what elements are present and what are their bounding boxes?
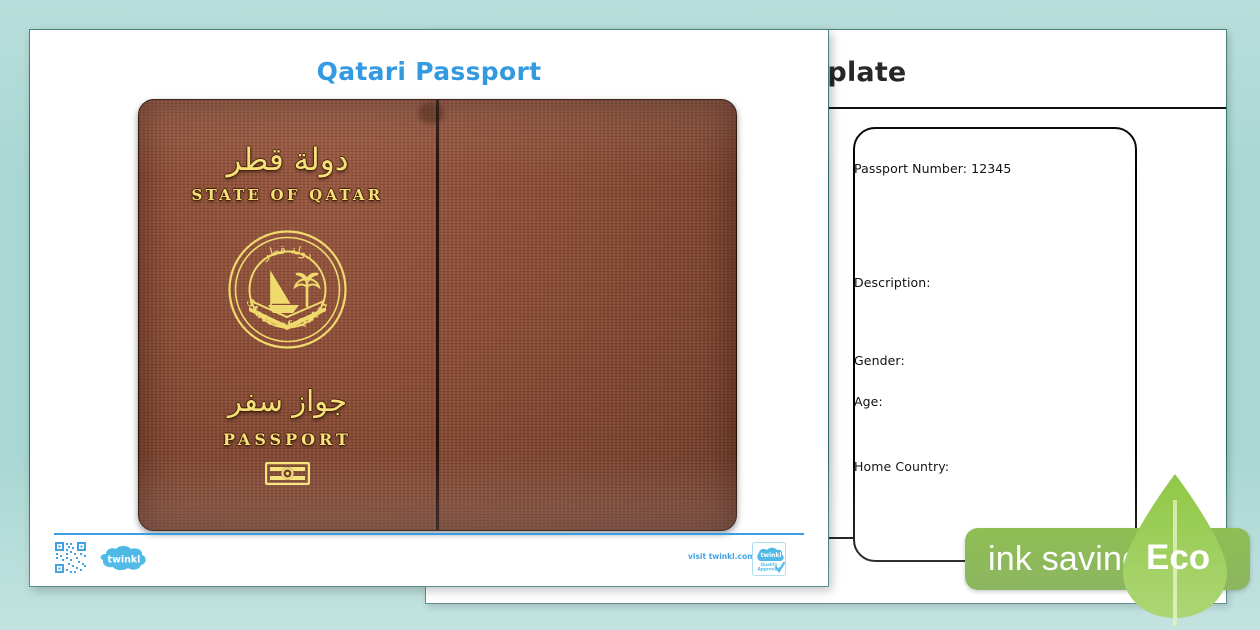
cover-scuff-mark — [418, 102, 444, 124]
passport-cover-image: دولة قطر STATE OF QATAR — [138, 99, 737, 531]
cover-arabic-passport-text: جواز سفر — [139, 387, 436, 416]
passport-spine-fold — [436, 100, 439, 530]
cover-passport-word: PASSPORT — [139, 430, 436, 449]
visit-twinkl-link[interactable]: visit twinkl.com — [688, 552, 755, 561]
front-page-title: Qatari Passport — [30, 57, 828, 86]
footer-divider — [54, 533, 804, 535]
field-gender: Gender: — [854, 353, 905, 368]
twinkl-logo[interactable]: twinkl — [96, 546, 152, 571]
field-passport-number: Passport Number: 12345 — [854, 161, 1011, 176]
twinkl-quality-approved-badge: twinkl Quality Approved — [752, 542, 786, 576]
cover-arabic-state-text: دولة قطر — [139, 145, 436, 176]
cover-state-of-qatar-text: STATE OF QATAR — [139, 186, 436, 204]
svg-text:twinkl: twinkl — [108, 555, 141, 566]
field-description: Description: — [854, 275, 931, 290]
field-home-country: Home Country: — [854, 459, 949, 474]
svg-text:دولة قطر: دولة قطر — [259, 243, 315, 264]
ink-saving-eco-badge: ink saving Eco — [965, 528, 1250, 590]
qatari-passport-front-page: Qatari Passport دولة قطر STATE OF QATAR — [29, 29, 829, 587]
eco-badge-eco-label: Eco — [1146, 538, 1210, 578]
screenshot-viewport: ort Template Passport Number: 12345 Desc… — [0, 0, 1260, 630]
svg-text:twinkl: twinkl — [761, 552, 782, 559]
biometric-chip-icon — [265, 462, 310, 485]
passport-details-card — [853, 127, 1137, 562]
field-age: Age: — [854, 394, 883, 409]
qatar-national-emblem-icon: State of Qatar دولة قطر — [227, 229, 348, 350]
qr-code-icon[interactable] — [54, 541, 87, 574]
